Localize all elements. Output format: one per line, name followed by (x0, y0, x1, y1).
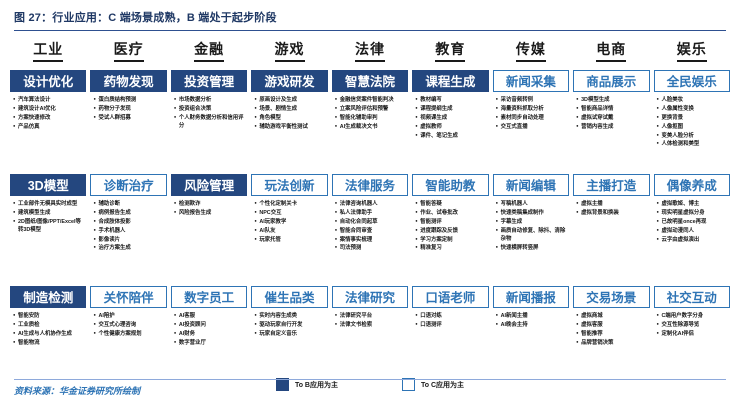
figure-title-block: 图 27：行业应用：C 端场景成熟，B 端处于起步阶段 (0, 0, 740, 25)
application-bullet-item: 虚拟歌姬、博主 (657, 200, 729, 208)
application-card[interactable]: 诊断治疗辅助诊断病例报告生成合成肢体投影手术机器人影像读片治疗方案生成 (90, 174, 166, 280)
application-bullet-item: 快速横屏转竖屏 (496, 244, 568, 252)
application-bullet-list: 市场数据分析投资组合决策个人财务数据分析和信用评分 (171, 96, 247, 168)
application-bullet-item: 检测欺诈 (174, 200, 246, 208)
application-card-title[interactable]: 关怀陪伴 (90, 286, 166, 308)
figure-footer: 资料来源：华金证券研究所绘制 (0, 379, 740, 397)
application-bullet-item: AI客服 (174, 312, 246, 320)
application-bullet-item: 工业部件无模具实时成型 (13, 200, 85, 208)
industry-header-cell: 工业 (10, 39, 86, 64)
application-bullet-item: 作业、试卷批改 (415, 209, 487, 217)
application-bullet-item: NPC交互 (254, 209, 326, 217)
application-card-title[interactable]: 3D模型 (10, 174, 86, 196)
application-bullet-list: 采访音频转例海量资料抓取分析素材同步自动处理交互式直播 (493, 96, 569, 168)
application-bullet-item: 个人财务数据分析和信用评分 (174, 114, 246, 131)
application-bullet-item: 虚拟客服 (576, 321, 648, 329)
application-bullet-item: 智能安防 (13, 312, 85, 320)
application-bullet-item: 实时内容生成类 (254, 312, 326, 320)
application-card[interactable]: 课程生成教材编写课程提纲生成视频课生成虚拟教师课件、笔记生成 (412, 70, 488, 168)
application-bullet-item: 现实明星虚拟分身 (657, 209, 729, 217)
application-bullet-item: AI玩家教学 (254, 218, 326, 226)
application-card[interactable]: 智慧法院金融信贷案件智能判决立案风险评估和预警智能化辅助审判AI生成裁决文书 (332, 70, 408, 168)
application-bullet-item: AI生成裁决文书 (335, 123, 407, 131)
application-bullet-item: 定制化AI伴侣 (657, 330, 729, 338)
application-card[interactable]: 新闻编辑写稿机器人快速类稿集成制作字幕生成画质自动修复、除抖、清除杂物快速横屏转… (493, 174, 569, 280)
application-card-title[interactable]: 催生品类 (251, 286, 327, 308)
application-card-title[interactable]: 制造检测 (10, 286, 86, 308)
application-bullet-item: 人像抠图 (657, 123, 729, 131)
industry-header-cell: 娱乐 (654, 39, 730, 64)
application-bullet-item: AI生成与人机协作生成 (13, 330, 85, 338)
application-bullet-item: 智能物流 (13, 339, 85, 347)
application-bullet-list: 法律研究平台法律文书检索 (332, 312, 408, 374)
application-bullet-list: 智能答疑作业、试卷批改智能测评进度跟踪及反馈学习方案定制精准复习 (412, 200, 488, 280)
application-bullet-item: 辅助游戏平衡性测试 (254, 123, 326, 131)
application-card[interactable]: 关怀陪伴AI陪护交互式心理咨询个性健康方案规划 (90, 286, 166, 374)
application-card-row-3: 制造检测智能安防工业质检AI生成与人机协作生成智能物流关怀陪伴AI陪护交互式心理… (10, 286, 730, 374)
application-bullet-item: 画质自动修复、除抖、清除杂物 (496, 227, 568, 244)
application-bullet-item: 营销内容生成 (576, 123, 648, 131)
application-card-title[interactable]: 玩法创新 (251, 174, 327, 196)
application-bullet-list: 法律咨询机器人私人法律助手自动化合同起草智能合同审查案情事实梳理司法预测 (332, 200, 408, 280)
application-bullet-list: 辅助诊断病例报告生成合成肢体投影手术机器人影像读片治疗方案生成 (90, 200, 166, 280)
application-bullet-list: AI客服AI投资顾问AI财务数字营业厅 (171, 312, 247, 374)
application-bullet-item: 人像属性变换 (657, 105, 729, 113)
application-bullet-list: 智能安防工业质检AI生成与人机协作生成智能物流 (10, 312, 86, 374)
source-note: 资料来源：华金证券研究所绘制 (14, 384, 726, 397)
application-card-title[interactable]: 投资管理 (171, 70, 247, 92)
application-bullet-list: 个性化定制关卡NPC交互AI玩家教学AI队友玩家托管 (251, 200, 327, 280)
application-card-title[interactable]: 全民娱乐 (654, 70, 730, 92)
industry-header-row: 工业 医疗 金融 游戏 法律 教育 传媒 电商 娱乐 (10, 39, 730, 64)
industry-name-industrial: 工业 (33, 39, 63, 62)
application-bullet-list: 虚拟商城虚拟客服智能推荐品牌营销决策 (573, 312, 649, 374)
application-bullet-item: 虚拟动漫同人 (657, 227, 729, 235)
application-bullet-list: 人脸美妆人像属性变换更换背景人像抠图变美人脸分析人体检测和美型 (654, 96, 730, 168)
application-card[interactable]: 偶像养成虚拟歌姬、博主现实明星虚拟分身已故明星once再现虚拟动漫同人云字由虚拟… (654, 174, 730, 280)
application-card-title[interactable]: 交易场景 (573, 286, 649, 308)
application-card[interactable]: 法律研究法律研究平台法律文书检索 (332, 286, 408, 374)
application-bullet-list: 实时内容生成类驱动玩家自行开发玩家自定义音乐 (251, 312, 327, 374)
application-bullet-item: 产品仿真 (13, 123, 85, 131)
application-bullet-item: 人脸美妆 (657, 96, 729, 104)
application-bullet-item: 私人法律助手 (335, 209, 407, 217)
application-bullet-list: 蛋白质结构预测药物分子发现受试人群招募 (90, 96, 166, 168)
application-bullet-item: 智能推荐 (576, 330, 648, 338)
application-bullet-list: 写稿机器人快速类稿集成制作字幕生成画质自动修复、除抖、清除杂物快速横屏转竖屏 (493, 200, 569, 280)
application-bullet-item: 数字营业厅 (174, 339, 246, 347)
industry-name-game: 游戏 (275, 39, 305, 62)
application-bullet-item: 海量资料抓取分析 (496, 105, 568, 113)
application-card[interactable]: 风险管理检测欺诈风险报告生成 (171, 174, 247, 280)
application-bullet-item: 快速类稿集成制作 (496, 209, 568, 217)
application-bullet-item: 口语对练 (415, 312, 487, 320)
application-bullet-item: 云字由虚拟演出 (657, 236, 729, 244)
application-card-title[interactable]: 社交互动 (654, 286, 730, 308)
application-card-title[interactable]: 偶像养成 (654, 174, 730, 196)
application-card[interactable]: 新闻播报AI新闻主播AI晚会主持 (493, 286, 569, 374)
application-bullet-item: 口语测评 (415, 321, 487, 329)
application-bullet-item: 自动化合同起草 (335, 218, 407, 226)
industry-header-cell: 教育 (412, 39, 488, 64)
application-card-title[interactable]: 风险管理 (171, 174, 247, 196)
application-bullet-item: 虚拟试穿试戴 (576, 114, 648, 122)
application-card-title[interactable]: 智慧法院 (332, 70, 408, 92)
application-bullet-item: 智能答疑 (415, 200, 487, 208)
application-card[interactable]: 商品展示3D模型生成智能商品详情虚拟试穿试戴营销内容生成 (573, 70, 649, 168)
application-card[interactable]: 3D模型工业部件无模具实时成型建筑模型生成2D图纸/图像/PPT/Excel等转… (10, 174, 86, 280)
application-card[interactable]: 投资管理市场数据分析投资组合决策个人财务数据分析和信用评分 (171, 70, 247, 168)
application-card[interactable]: 交易场景虚拟商城虚拟客服智能推荐品牌营销决策 (573, 286, 649, 374)
application-bullet-item: 智能合同审查 (335, 227, 407, 235)
application-card[interactable]: 设计优化汽车算法设计建筑设计AI优化方案快速修改产品仿真 (10, 70, 86, 168)
industry-matrix: 工业 医疗 金融 游戏 法律 教育 传媒 电商 娱乐 设计优化汽车算法设计建筑设… (0, 39, 740, 391)
industry-header-cell: 法律 (332, 39, 408, 64)
application-card[interactable]: 游戏研发原画设计及生成场景、剧情生成角色模型辅助游戏平衡性测试 (251, 70, 327, 168)
application-card[interactable]: 制造检测智能安防工业质检AI生成与人机协作生成智能物流 (10, 286, 86, 374)
application-bullet-list: 工业部件无模具实时成型建筑模型生成2D图纸/图像/PPT/Excel等转3D模型 (10, 200, 86, 280)
application-bullet-item: 变美人脸分析 (657, 132, 729, 140)
application-bullet-item: 法律研究平台 (335, 312, 407, 320)
application-card[interactable]: 口语老师口语对练口语测评 (412, 286, 488, 374)
application-bullet-item: 素材同步自动处理 (496, 114, 568, 122)
industry-name-law: 法律 (355, 39, 385, 62)
application-bullet-item: 受试人群招募 (93, 114, 165, 122)
application-card-title[interactable]: 主播打造 (573, 174, 649, 196)
industry-name-entertainment: 娱乐 (677, 39, 707, 62)
application-bullet-item: 立案风险评估和预警 (335, 105, 407, 113)
application-bullet-item: 原画设计及生成 (254, 96, 326, 104)
application-bullet-item: 3D模型生成 (576, 96, 648, 104)
application-bullet-item: 交互式心理咨询 (93, 321, 165, 329)
application-bullet-list: AI陪护交互式心理咨询个性健康方案规划 (90, 312, 166, 374)
application-bullet-item: 建筑设计AI优化 (13, 105, 85, 113)
application-card-title[interactable]: 设计优化 (10, 70, 86, 92)
application-bullet-item: 智能商品详情 (576, 105, 648, 113)
application-bullet-item: 蛋白质结构预测 (93, 96, 165, 104)
application-bullet-item: 建筑模型生成 (13, 209, 85, 217)
application-bullet-list: 虚拟主播虚拟背景和换装 (573, 200, 649, 280)
application-bullet-list: C端用户数字分身交互性除源导览定制化AI伴侣 (654, 312, 730, 374)
industry-name-finance: 金融 (194, 39, 224, 62)
title-divider (14, 30, 726, 31)
application-bullet-list: 口语对练口语测评 (412, 312, 488, 374)
application-bullet-item: 风险报告生成 (174, 209, 246, 217)
application-bullet-list: 检测欺诈风险报告生成 (171, 200, 247, 280)
application-bullet-item: 司法预测 (335, 244, 407, 252)
application-bullet-item: 治疗方案生成 (93, 244, 165, 252)
application-bullet-item: 市场数据分析 (174, 96, 246, 104)
application-bullet-list: 3D模型生成智能商品详情虚拟试穿试戴营销内容生成 (573, 96, 649, 168)
application-bullet-list: AI新闻主播AI晚会主持 (493, 312, 569, 374)
application-card-row-1: 设计优化汽车算法设计建筑设计AI优化方案快速修改产品仿真药物发现蛋白质结构预测药… (10, 70, 730, 168)
application-card-title[interactable]: 口语老师 (412, 286, 488, 308)
application-bullet-item: 汽车算法设计 (13, 96, 85, 104)
application-card-title[interactable]: 课程生成 (412, 70, 488, 92)
application-bullet-item: 场景、剧情生成 (254, 105, 326, 113)
application-bullet-item: 字幕生成 (496, 218, 568, 226)
application-bullet-item: 驱动玩家自行开发 (254, 321, 326, 329)
application-card-title[interactable]: 法律服务 (332, 174, 408, 196)
application-card[interactable]: 催生品类实时内容生成类驱动玩家自行开发玩家自定义音乐 (251, 286, 327, 374)
application-bullet-item: 智能化辅助审判 (335, 114, 407, 122)
application-bullet-item: 交互性除源导览 (657, 321, 729, 329)
application-card-title[interactable]: 商品展示 (573, 70, 649, 92)
application-bullet-item: 个性化定制关卡 (254, 200, 326, 208)
application-bullet-item: AI晚会主持 (496, 321, 568, 329)
application-bullet-item: 交互式直播 (496, 123, 568, 131)
application-bullet-list: 原画设计及生成场景、剧情生成角色模型辅助游戏平衡性测试 (251, 96, 327, 168)
industry-header-cell: 金融 (171, 39, 247, 64)
application-bullet-item: 法律咨询机器人 (335, 200, 407, 208)
application-bullet-item: 虚拟教师 (415, 123, 487, 131)
industry-name-ecommerce: 电商 (596, 39, 626, 62)
industry-header-cell: 游戏 (251, 39, 327, 64)
application-bullet-item: 法律文书检索 (335, 321, 407, 329)
industry-header-cell: 医疗 (90, 39, 166, 64)
application-card[interactable]: 数字员工AI客服AI投资顾问AI财务数字营业厅 (171, 286, 247, 374)
industry-name-media: 传媒 (516, 39, 546, 62)
application-bullet-item: 虚拟背景和换装 (576, 209, 648, 217)
application-bullet-item: 工业质检 (13, 321, 85, 329)
application-bullet-item: 合成肢体投影 (93, 218, 165, 226)
application-bullet-item: 虚拟商城 (576, 312, 648, 320)
application-bullet-list: 教材编写课程提纲生成视频课生成虚拟教师课件、笔记生成 (412, 96, 488, 168)
application-bullet-item: 视频课生成 (415, 114, 487, 122)
application-bullet-item: 角色模型 (254, 114, 326, 122)
application-bullet-list: 虚拟歌姬、博主现实明星虚拟分身已故明星once再现虚拟动漫同人云字由虚拟演出 (654, 200, 730, 280)
application-bullet-item: 病例报告生成 (93, 209, 165, 217)
application-card-title[interactable]: 新闻编辑 (493, 174, 569, 196)
application-card-title[interactable]: 法律研究 (332, 286, 408, 308)
application-bullet-item: 进度跟踪及反馈 (415, 227, 487, 235)
application-card[interactable]: 新闻采集采访音频转例海量资料抓取分析素材同步自动处理交互式直播 (493, 70, 569, 168)
industry-header-cell: 电商 (573, 39, 649, 64)
application-card[interactable]: 智能助教智能答疑作业、试卷批改智能测评进度跟踪及反馈学习方案定制精准复习 (412, 174, 488, 280)
application-bullet-item: 已故明星once再现 (657, 218, 729, 226)
application-bullet-item: 智能测评 (415, 218, 487, 226)
application-bullet-item: 人体检测和美型 (657, 140, 729, 148)
application-bullet-item: 个性健康方案规划 (93, 330, 165, 338)
application-bullet-item: 虚拟主播 (576, 200, 648, 208)
application-card-title[interactable]: 智能助教 (412, 174, 488, 196)
application-bullet-item: AI财务 (174, 330, 246, 338)
application-bullet-item: 采访音频转例 (496, 96, 568, 104)
application-bullet-item: 案情事实梳理 (335, 236, 407, 244)
application-bullet-item: 更换背景 (657, 114, 729, 122)
application-bullet-item: 金融信贷案件智能判决 (335, 96, 407, 104)
industry-header-cell: 传媒 (493, 39, 569, 64)
application-card-row-2: 3D模型工业部件无模具实时成型建筑模型生成2D图纸/图像/PPT/Excel等转… (10, 174, 730, 280)
application-bullet-item: 课件、笔记生成 (415, 132, 487, 140)
application-card-title[interactable]: 新闻采集 (493, 70, 569, 92)
application-card-title[interactable]: 新闻播报 (493, 286, 569, 308)
application-bullet-item: 课程提纲生成 (415, 105, 487, 113)
application-bullet-list: 金融信贷案件智能判决立案风险评估和预警智能化辅助审判AI生成裁决文书 (332, 96, 408, 168)
application-bullet-item: AI新闻主播 (496, 312, 568, 320)
application-bullet-item: AI队友 (254, 227, 326, 235)
application-bullet-item: C端用户数字分身 (657, 312, 729, 320)
industry-name-education: 教育 (435, 39, 465, 62)
application-bullet-item: 玩家托管 (254, 236, 326, 244)
page-title: 图 27：行业应用：C 端场景成熟，B 端处于起步阶段 (14, 9, 726, 25)
application-bullet-item: 2D图纸/图像/PPT/Excel等转3D模型 (13, 218, 85, 235)
application-bullet-item: 学习方案定制 (415, 236, 487, 244)
application-card-title[interactable]: 诊断治疗 (90, 174, 166, 196)
application-card[interactable]: 全民娱乐人脸美妆人像属性变换更换背景人像抠图变美人脸分析人体检测和美型 (654, 70, 730, 168)
application-bullet-item: 玩家自定义音乐 (254, 330, 326, 338)
application-bullet-item: 手术机器人 (93, 227, 165, 235)
application-bullet-item: 品牌营销决策 (576, 339, 648, 347)
application-card-title[interactable]: 药物发现 (90, 70, 166, 92)
application-card-title[interactable]: 数字员工 (171, 286, 247, 308)
application-card-title[interactable]: 游戏研发 (251, 70, 327, 92)
application-bullet-item: 投资组合决策 (174, 105, 246, 113)
application-bullet-item: 精准复习 (415, 244, 487, 252)
figure-page: { "figure": { "title": "图 27：行业应用：C 端场景成… (0, 0, 740, 403)
application-card[interactable]: 玩法创新个性化定制关卡NPC交互AI玩家教学AI队友玩家托管 (251, 174, 327, 280)
industry-name-medical: 医疗 (114, 39, 144, 62)
application-bullet-item: 药物分子发现 (93, 105, 165, 113)
application-bullet-item: 教材编写 (415, 96, 487, 104)
application-bullet-item: 写稿机器人 (496, 200, 568, 208)
application-bullet-item: 辅助诊断 (93, 200, 165, 208)
application-card[interactable]: 社交互动C端用户数字分身交互性除源导览定制化AI伴侣 (654, 286, 730, 374)
application-bullet-item: AI投资顾问 (174, 321, 246, 329)
application-bullet-item: AI陪护 (93, 312, 165, 320)
application-bullet-list: 汽车算法设计建筑设计AI优化方案快速修改产品仿真 (10, 96, 86, 168)
application-card[interactable]: 主播打造虚拟主播虚拟背景和换装 (573, 174, 649, 280)
application-card[interactable]: 药物发现蛋白质结构预测药物分子发现受试人群招募 (90, 70, 166, 168)
application-card[interactable]: 法律服务法律咨询机器人私人法律助手自动化合同起草智能合同审查案情事实梳理司法预测 (332, 174, 408, 280)
footer-divider (14, 379, 726, 380)
application-bullet-item: 影像读片 (93, 236, 165, 244)
application-bullet-item: 方案快速修改 (13, 114, 85, 122)
